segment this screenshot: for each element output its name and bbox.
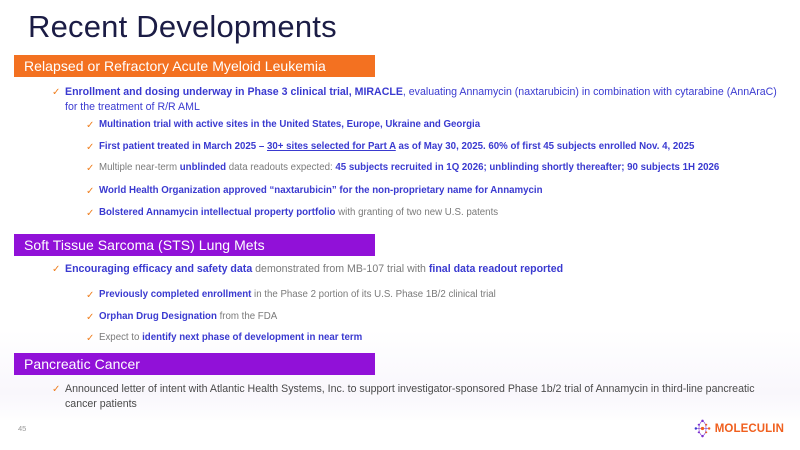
- text-run: demonstrated from MB-107 trial with: [252, 263, 429, 275]
- bullet-aml-5: ✓ Bolstered Annamycin intellectual prope…: [86, 206, 786, 220]
- bullet-aml-3: ✓ Multiple near-term unblinded data read…: [86, 161, 786, 175]
- slide-canvas: Recent Developments Relapsed or Refracto…: [0, 0, 800, 450]
- check-icon: ✓: [52, 262, 65, 276]
- check-icon: ✓: [86, 206, 99, 220]
- bullet-aml-4: ✓ World Health Organization approved “na…: [86, 184, 786, 198]
- section-header-label: Relapsed or Refractory Acute Myeloid Leu…: [24, 59, 326, 73]
- bullet-text: Multination trial with active sites in t…: [99, 118, 480, 131]
- text-run: Multination trial with active sites in t…: [99, 119, 480, 130]
- text-run: 45 subjects recruited in 1Q 2026; unblin…: [335, 162, 719, 173]
- section-header-pancreatic: Pancreatic Cancer: [14, 353, 375, 375]
- bullet-text: Multiple near-term unblinded data readou…: [99, 161, 719, 174]
- bullet-text: Announced letter of intent with Atlantic…: [65, 382, 782, 411]
- check-icon: ✓: [86, 118, 99, 132]
- brand-logo: MOLECULIN: [693, 419, 784, 438]
- text-run: 30+ sites selected for Part A: [267, 141, 396, 152]
- bullet-text: Previously completed enrollment in the P…: [99, 288, 496, 301]
- bullet-text: Expect to identify next phase of develop…: [99, 331, 362, 344]
- check-icon: ✓: [86, 161, 99, 175]
- text-run: data readouts expected:: [226, 162, 335, 173]
- molecule-icon: [693, 419, 712, 438]
- text-run: in the Phase 2 portion of its U.S. Phase…: [251, 289, 495, 300]
- bullet-text: World Health Organization approved “naxt…: [99, 184, 543, 197]
- bullet-pancreatic-0: ✓ Announced letter of intent with Atlant…: [52, 382, 782, 411]
- text-run: Bolstered Annamycin intellectual propert…: [99, 207, 335, 218]
- bullet-sts-2: ✓ Orphan Drug Designation from the FDA: [86, 310, 786, 324]
- section-header-aml: Relapsed or Refractory Acute Myeloid Leu…: [14, 55, 375, 77]
- bullet-text: Orphan Drug Designation from the FDA: [99, 310, 277, 323]
- section-header-sts: Soft Tissue Sarcoma (STS) Lung Mets: [14, 234, 375, 256]
- text-run: Previously completed enrollment: [99, 289, 251, 300]
- bullet-aml-0: ✓ Enrollment and dosing underway in Phas…: [52, 85, 782, 114]
- page-number: 45: [18, 424, 26, 433]
- page-title: Recent Developments: [28, 8, 337, 46]
- check-icon: ✓: [52, 85, 65, 99]
- check-icon: ✓: [86, 184, 99, 198]
- bullet-sts-3: ✓ Expect to identify next phase of devel…: [86, 331, 786, 345]
- text-run: World Health Organization approved “naxt…: [99, 185, 543, 196]
- bullet-text: Encouraging efficacy and safety data dem…: [65, 262, 563, 277]
- text-run: Expect to: [99, 332, 142, 343]
- text-run: Enrollment and dosing underway in Phase …: [65, 86, 403, 98]
- text-run: Orphan Drug Designation: [99, 311, 217, 322]
- section-header-label: Soft Tissue Sarcoma (STS) Lung Mets: [24, 238, 265, 252]
- bullet-text: Enrollment and dosing underway in Phase …: [65, 85, 782, 114]
- bullet-aml-2: ✓ First patient treated in March 2025 – …: [86, 140, 786, 154]
- check-icon: ✓: [86, 310, 99, 324]
- bullet-sts-1: ✓ Previously completed enrollment in the…: [86, 288, 786, 302]
- text-run: final data readout reported: [429, 263, 563, 275]
- text-run: as of May 30, 2025. 60% of first 45 subj…: [396, 141, 695, 152]
- brand-logo-text: MOLECULIN: [715, 423, 784, 435]
- check-icon: ✓: [86, 140, 99, 154]
- text-run: First patient treated in March 2025 –: [99, 141, 267, 152]
- text-run: identify next phase of development in ne…: [142, 332, 362, 343]
- text-run: Announced letter of intent with Atlantic…: [65, 383, 755, 410]
- check-icon: ✓: [52, 382, 65, 396]
- text-run: Encouraging efficacy and safety data: [65, 263, 252, 275]
- bullet-text: Bolstered Annamycin intellectual propert…: [99, 206, 498, 219]
- bullet-text: First patient treated in March 2025 – 30…: [99, 140, 694, 153]
- text-run: unblinded: [180, 162, 226, 173]
- section-header-label: Pancreatic Cancer: [24, 357, 140, 371]
- text-run: with granting of two new U.S. patents: [335, 207, 498, 218]
- text-run: from the FDA: [217, 311, 277, 322]
- check-icon: ✓: [86, 288, 99, 302]
- bullet-sts-0: ✓ Encouraging efficacy and safety data d…: [52, 262, 782, 277]
- bullet-aml-1: ✓ Multination trial with active sites in…: [86, 118, 786, 132]
- check-icon: ✓: [86, 331, 99, 345]
- text-run: Multiple near-term: [99, 162, 180, 173]
